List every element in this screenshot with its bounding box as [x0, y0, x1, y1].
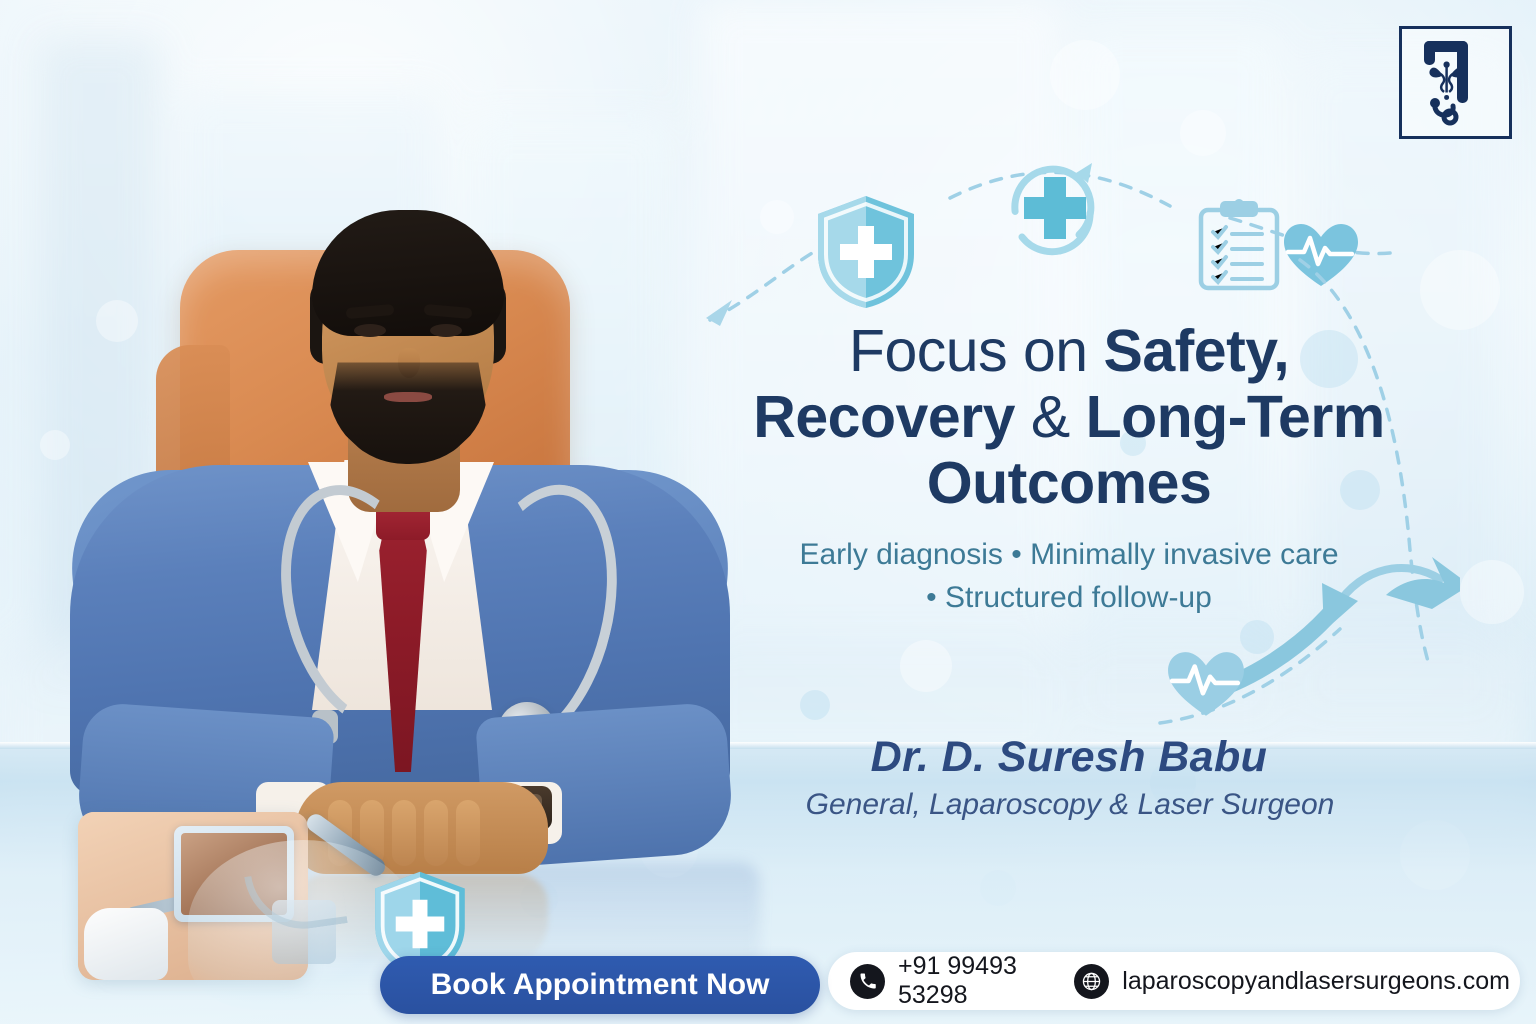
website-contact[interactable]: laparoscopyandlasersurgeons.com — [1074, 964, 1510, 999]
headline-line2-longterm: Long-Term — [1086, 384, 1385, 450]
page-subtitle: Early diagnosis • Minimally invasive car… — [724, 534, 1414, 619]
shield-cross-icon — [812, 192, 920, 312]
promo-banner: Focus on Safety, Recovery & Long-Term Ou… — [0, 0, 1536, 1024]
contact-details: +91 99493 53298 laparoscopyandlasersurge… — [850, 952, 1510, 1010]
globe-icon — [1074, 964, 1109, 999]
headline-line2-amp: & — [1015, 384, 1086, 450]
headline-line3: Outcomes — [927, 450, 1212, 516]
headline-line2-recovery: Recovery — [753, 384, 1015, 450]
subtitle-line1: Early diagnosis • Minimally invasive car… — [724, 534, 1414, 577]
subtitle-line2: • Structured follow-up — [724, 577, 1414, 620]
doctor-name: Dr. D. Suresh Babu — [724, 733, 1414, 782]
headline-line1-plain: Focus on — [849, 318, 1104, 384]
book-appointment-button[interactable]: Book Appointment Now — [380, 956, 820, 1014]
page-title: Focus on Safety, Recovery & Long-Term Ou… — [724, 318, 1414, 516]
headline-line1-bold: Safety, — [1103, 318, 1289, 384]
cross-in-circle-icon — [1000, 155, 1110, 265]
contact-bar: +91 99493 53298 laparoscopyandlasersurge… — [380, 952, 1520, 1014]
phone-contact[interactable]: +91 99493 53298 — [850, 952, 1046, 1010]
phone-icon — [850, 964, 885, 999]
doctor-specialty: General, Laparoscopy & Laser Surgeon — [700, 788, 1440, 822]
hair — [312, 210, 504, 336]
caduceus-laparoscope-icon — [1402, 29, 1509, 136]
clipboard-checklist-icon — [1196, 198, 1282, 292]
heart-pulse-icon-lower — [1166, 650, 1246, 720]
clinic-logo[interactable] — [1399, 26, 1512, 139]
doctor-portrait — [60, 110, 760, 770]
website-url: laparoscopyandlasersurgeons.com — [1122, 967, 1510, 996]
phone-number: +91 99493 53298 — [898, 952, 1046, 1010]
